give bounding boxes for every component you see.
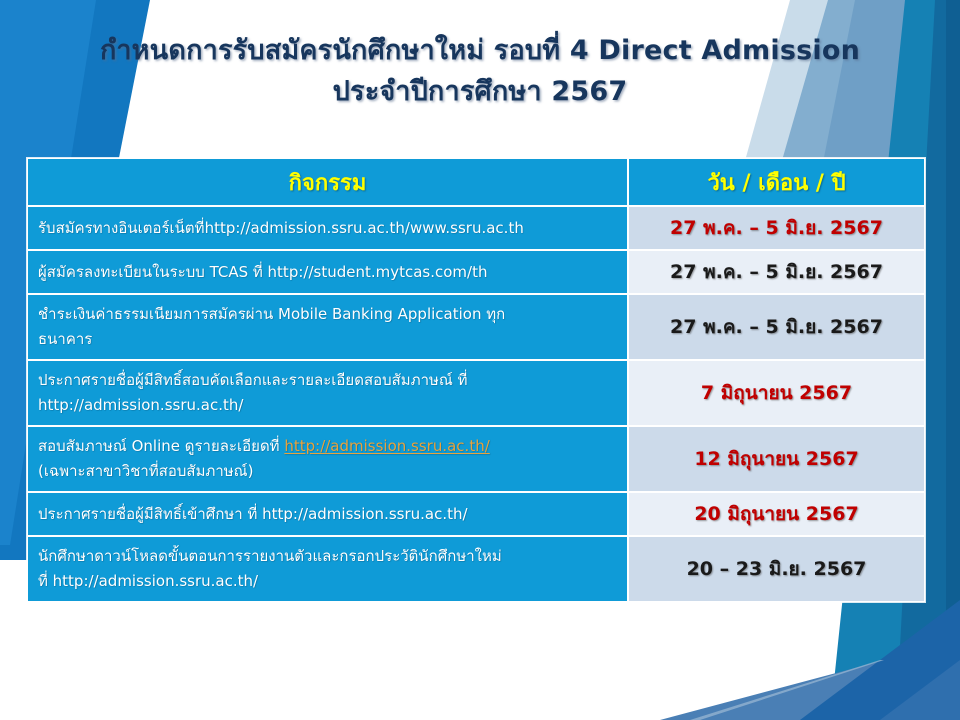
admission-schedule-table: กิจกรรม วัน / เดือน / ปี รับสมัครทางอินเ…: [27, 158, 925, 602]
activity-line: รับสมัครทางอินเตอร์เน็ตที่http://admissi…: [38, 216, 617, 241]
date-cell: 27 พ.ค. – 5 มิ.ย. 2567: [628, 206, 925, 250]
activity-line: ประกาศรายชื่อผู้มีสิทธิ์สอบคัดเลือกและรา…: [38, 368, 617, 393]
table-row: ประกาศรายชื่อผู้มีสิทธิ์สอบคัดเลือกและรา…: [27, 360, 925, 426]
title-line-1: กำหนดการรับสมัครนักศึกษาใหม่ รอบที่ 4 Di…: [0, 30, 960, 71]
slide-canvas: กำหนดการรับสมัครนักศึกษาใหม่ รอบที่ 4 Di…: [0, 0, 960, 720]
activity-cell: รับสมัครทางอินเตอร์เน็ตที่http://admissi…: [27, 206, 628, 250]
activity-text: ผู้สมัครลงทะเบียนในระบบ TCAS ที่: [38, 263, 268, 281]
activity-url-link[interactable]: http://admission.ssru.ac.th/: [284, 437, 489, 455]
activity-cell: นักศึกษาดาวน์โหลดขั้นตอนการรายงานตัวและก…: [27, 536, 628, 602]
activity-line-2: (เฉพาะสาขาวิชาที่สอบสัมภาษณ์): [38, 459, 617, 484]
activity-text: ชำระเงินค่าธรรมเนียมการสมัครผ่าน Mobile …: [38, 305, 505, 323]
bottom-hairline: [690, 660, 884, 720]
bottom-plate-dark: [800, 600, 960, 720]
table-row: ผู้สมัครลงทะเบียนในระบบ TCAS ที่ http://…: [27, 250, 925, 294]
activity-line-2: ที่ http://admission.ssru.ac.th/: [38, 569, 617, 594]
bottom-plate-accent: [880, 660, 960, 720]
column-header-date: วัน / เดือน / ปี: [628, 158, 925, 206]
bottom-plate-mid: [660, 640, 960, 720]
activity-cell: ชำระเงินค่าธรรมเนียมการสมัครผ่าน Mobile …: [27, 294, 628, 360]
activity-text: นักศึกษาดาวน์โหลดขั้นตอนการรายงานตัวและก…: [38, 547, 502, 565]
activity-line: นักศึกษาดาวน์โหลดขั้นตอนการรายงานตัวและก…: [38, 544, 617, 569]
activity-url-link: http://student.mytcas.com/th: [268, 263, 488, 281]
date-cell: 27 พ.ค. – 5 มิ.ย. 2567: [628, 250, 925, 294]
activity-url-link: http://admission.ssru.ac.th/: [262, 505, 467, 523]
activity-cell: ผู้สมัครลงทะเบียนในระบบ TCAS ที่ http://…: [27, 250, 628, 294]
activity-line-2: http://admission.ssru.ac.th/: [38, 393, 617, 418]
activity-cell: ประกาศรายชื่อผู้มีสิทธิ์เข้าศึกษา ที่ ht…: [27, 492, 628, 536]
date-cell: 7 มิถุนายน 2567: [628, 360, 925, 426]
activity-text: ประกาศรายชื่อผู้มีสิทธิ์สอบคัดเลือกและรา…: [38, 371, 467, 389]
activity-line: สอบสัมภาษณ์ Online ดูรายละเอียดที่ http:…: [38, 434, 617, 459]
table-row: นักศึกษาดาวน์โหลดขั้นตอนการรายงานตัวและก…: [27, 536, 925, 602]
date-cell: 20 – 23 มิ.ย. 2567: [628, 536, 925, 602]
activity-text: สอบสัมภาษณ์ Online ดูรายละเอียดที่: [38, 437, 284, 455]
title-line-2: ประจำปีการศึกษา 2567: [0, 71, 960, 112]
activity-line: ผู้สมัครลงทะเบียนในระบบ TCAS ที่ http://…: [38, 260, 617, 285]
activity-line: ชำระเงินค่าธรรมเนียมการสมัครผ่าน Mobile …: [38, 302, 617, 327]
table-body: รับสมัครทางอินเตอร์เน็ตที่http://admissi…: [27, 206, 925, 602]
activity-text: ประกาศรายชื่อผู้มีสิทธิ์เข้าศึกษา ที่: [38, 505, 262, 523]
activity-cell: สอบสัมภาษณ์ Online ดูรายละเอียดที่ http:…: [27, 426, 628, 492]
activity-line: ประกาศรายชื่อผู้มีสิทธิ์เข้าศึกษา ที่ ht…: [38, 502, 617, 527]
table-header-row: กิจกรรม วัน / เดือน / ปี: [27, 158, 925, 206]
table-row: รับสมัครทางอินเตอร์เน็ตที่http://admissi…: [27, 206, 925, 250]
activity-url-link: http://admission.ssru.ac.th/www.ssru.ac.…: [205, 219, 524, 237]
table-row: ชำระเงินค่าธรรมเนียมการสมัครผ่าน Mobile …: [27, 294, 925, 360]
activity-text: รับสมัครทางอินเตอร์เน็ตที่: [38, 219, 205, 237]
activity-line-2: ธนาคาร: [38, 327, 617, 352]
table-row: สอบสัมภาษณ์ Online ดูรายละเอียดที่ http:…: [27, 426, 925, 492]
table-row: ประกาศรายชื่อผู้มีสิทธิ์เข้าศึกษา ที่ ht…: [27, 492, 925, 536]
date-cell: 20 มิถุนายน 2567: [628, 492, 925, 536]
date-cell: 12 มิถุนายน 2567: [628, 426, 925, 492]
page-title: กำหนดการรับสมัครนักศึกษาใหม่ รอบที่ 4 Di…: [0, 30, 960, 112]
activity-cell: ประกาศรายชื่อผู้มีสิทธิ์สอบคัดเลือกและรา…: [27, 360, 628, 426]
table-header: กิจกรรม วัน / เดือน / ปี: [27, 158, 925, 206]
column-header-activity: กิจกรรม: [27, 158, 628, 206]
date-cell: 27 พ.ค. – 5 มิ.ย. 2567: [628, 294, 925, 360]
